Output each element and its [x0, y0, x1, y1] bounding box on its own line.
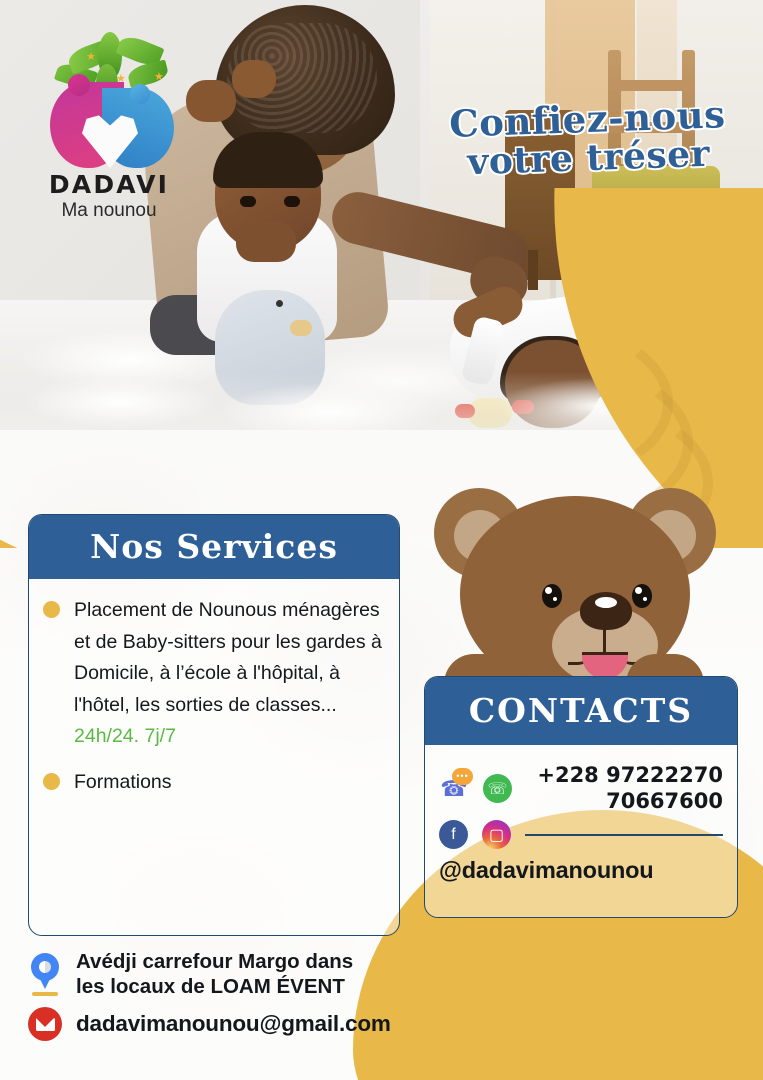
contacts-card: CONTACTS ☎ ••• ☏ +228 97222270 70667600 …	[424, 676, 738, 918]
contacts-rows: ☎ ••• ☏ +228 97222270 70667600 f ▢ @dada…	[425, 757, 737, 890]
services-list: Placement de Nounous ménagères et de Bab…	[29, 587, 399, 812]
contacts-banner: CONTACTS	[424, 676, 738, 745]
footer-email-row: dadavimanounou@gmail.com	[28, 1007, 548, 1041]
phone-icon[interactable]: ☎ •••	[439, 774, 469, 804]
bear-eye-left	[542, 584, 562, 608]
footer-address: Avédji carrefour Margo dans les locaux d…	[76, 950, 353, 999]
address-line-2: les locaux de LOAM ÉVENT	[76, 975, 345, 998]
envelope-icon	[28, 1007, 62, 1041]
social-handle[interactable]: @dadavimanounou	[439, 857, 723, 884]
social-icon-pair: f ▢	[439, 820, 511, 849]
bullet-icon	[43, 773, 60, 790]
footer-contact-info: Avédji carrefour Margo dans les locaux d…	[28, 950, 548, 1049]
bear-nose-highlight	[595, 597, 617, 608]
page-title: Confiez-nous votre tréser	[427, 94, 750, 182]
phone-icon-pair: ☎ ••• ☏	[439, 774, 512, 804]
contact-phone-row: ☎ ••• ☏ +228 97222270 70667600	[439, 763, 723, 814]
phone-primary: +228 97222270	[537, 763, 723, 787]
service-item-hours: 24h/24. 7j/7	[74, 721, 385, 753]
logo-tagline: Ma nounou	[34, 200, 184, 222]
address-line-1: Avédji carrefour Margo dans	[76, 950, 353, 973]
chat-bubble-icon: •••	[452, 768, 473, 785]
brand-logo: ★ ★ ★ ★ DADAVI Ma nounou	[34, 30, 184, 210]
services-card: Nos Services Placement de Nounous ménagè…	[28, 514, 400, 936]
services-banner: Nos Services	[28, 514, 400, 579]
contacts-title: CONTACTS	[469, 691, 693, 730]
logo-brand-name: DADAVI	[34, 170, 184, 199]
facebook-icon[interactable]: f	[439, 820, 468, 849]
list-item: Formations	[43, 767, 385, 799]
divider	[525, 834, 723, 836]
whatsapp-icon[interactable]: ☏	[483, 774, 512, 803]
flyer-poster: ★ ★ ★ ★ DADAVI Ma nounou Confiez-nous vo…	[0, 0, 763, 1080]
service-item-description: Placement de Nounous ménagères et de Bab…	[74, 599, 382, 716]
phone-numbers[interactable]: +228 97222270 70667600	[524, 763, 723, 814]
services-title: Nos Services	[90, 527, 338, 566]
instagram-icon[interactable]: ▢	[482, 820, 511, 849]
bear-eye-right	[632, 584, 652, 608]
footer-address-row: Avédji carrefour Margo dans les locaux d…	[28, 950, 548, 999]
logo-star-icon: ★	[86, 52, 96, 63]
logo-family-heart-icon	[50, 82, 174, 168]
service-item-text: Formations	[74, 767, 172, 799]
list-item: Placement de Nounous ménagères et de Bab…	[43, 595, 385, 753]
bullet-icon	[43, 601, 60, 618]
contact-social-row: f ▢	[439, 820, 723, 849]
photo-baby1-leg2	[232, 60, 276, 98]
footer-email[interactable]: dadavimanounou@gmail.com	[76, 1011, 391, 1037]
photo-baby1-leg	[186, 80, 236, 122]
service-item-text: Placement de Nounous ménagères et de Bab…	[74, 595, 385, 753]
map-pin-icon	[28, 953, 62, 997]
phone-secondary: 70667600	[606, 789, 723, 813]
